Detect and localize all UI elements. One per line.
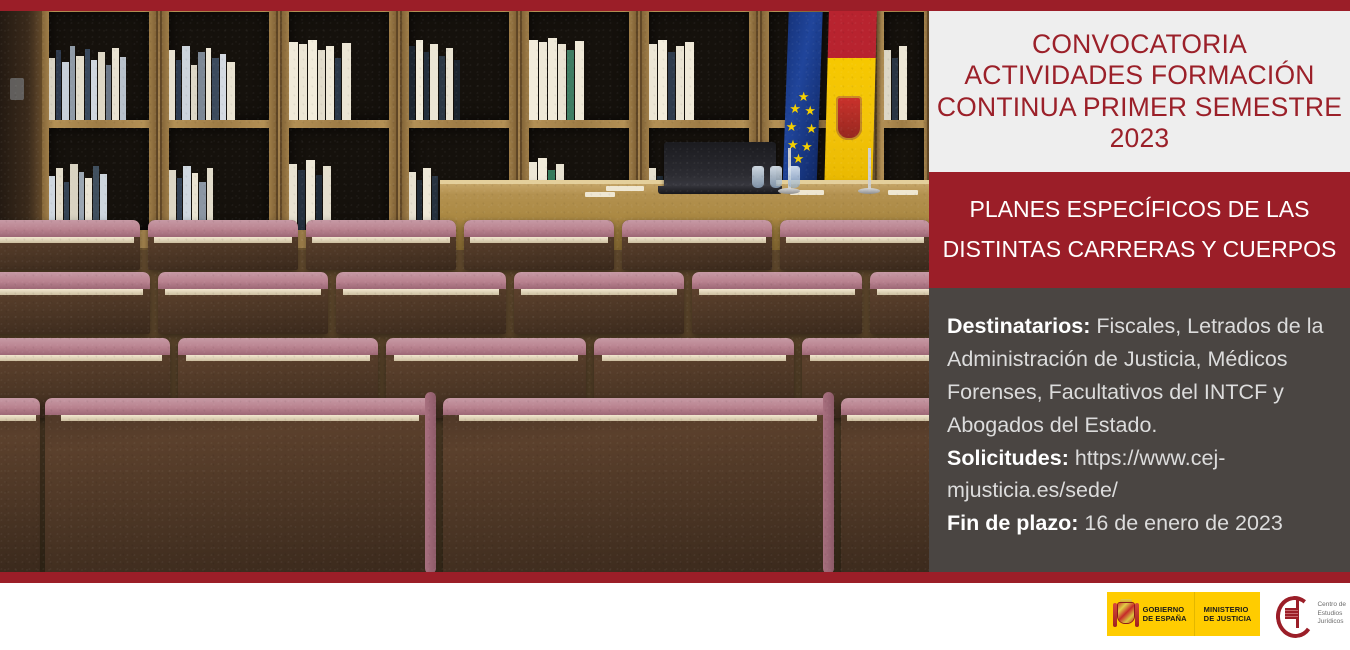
subtitle-line-2: DISTINTAS CARRERAS Y CUERPOS (943, 230, 1337, 270)
poster-details-block: Destinatarios: Fiscales, Letrados de la … (929, 288, 1350, 572)
paper-sheet (606, 186, 644, 191)
bookcase-glass-pane (649, 12, 749, 120)
microphone-base (858, 188, 880, 194)
paper-sheet (585, 192, 615, 197)
poster-title-block: CONVOCATORIA ACTIVIDADES FORMACIÓN CONTI… (929, 11, 1350, 172)
water-glass (770, 166, 782, 188)
seat (464, 220, 614, 270)
title-line-4: 2023 (1110, 123, 1170, 153)
detail-fin-de-plazo: Fin de plazo: 16 de enero de 2023 (947, 507, 1332, 540)
title-line-1: CONVOCATORIA (1032, 29, 1247, 59)
title-line-2: ACTIVIDADES FORMACIÓN (964, 60, 1314, 90)
cej-line-2: Estudios (1317, 610, 1346, 619)
bookcase-glass-pane (409, 12, 509, 120)
detail-solicitudes: Solicitudes: https://www.cej-mjusticia.e… (947, 442, 1332, 508)
microphone-base (778, 188, 800, 194)
bookcase-glass-pane (169, 12, 269, 120)
pillar-icon (1113, 603, 1117, 627)
book-shelf (289, 128, 389, 230)
detail-label-solicitudes: Solicitudes: (947, 446, 1069, 470)
ministerio-lockup: MINISTERIO DE JUSTICIA (1195, 592, 1261, 636)
book-shelf (649, 12, 749, 120)
bookcase-glass-pane (529, 12, 629, 120)
seat (45, 398, 435, 572)
bookcase-glass-pane (289, 12, 389, 120)
water-glass (788, 166, 800, 188)
detail-destinatarios: Destinatarios: Fiscales, Letrados de la … (947, 310, 1332, 442)
footer: GOBIERNO DE ESPAÑA MINISTERIO DE JUSTICI… (0, 583, 1350, 650)
bookcase-glass-pane (49, 12, 149, 120)
book-shelf (169, 12, 269, 120)
seat (148, 220, 298, 270)
wall-shadow-left (0, 0, 40, 250)
seat (0, 398, 40, 572)
subtitle-line-1: PLANES ESPECÍFICOS DE LAS (969, 190, 1309, 230)
bookcase-glass-pane (884, 12, 924, 120)
shield-icon (1118, 603, 1134, 623)
seat (514, 272, 684, 334)
detail-label-destinatarios: Destinatarios: (947, 314, 1090, 338)
bookcase-glass-pane (49, 128, 149, 230)
bookcase-column (40, 0, 158, 250)
bottom-accent-bar (0, 572, 1350, 583)
cej-inner-block-icon (1285, 608, 1298, 619)
cej-line-1: Centro de (1317, 601, 1346, 610)
cej-line-3: Jurídicos (1317, 618, 1346, 627)
book-shelf (884, 12, 924, 120)
gobierno-line-1: GOBIERNO (1143, 605, 1187, 614)
seat (841, 398, 929, 572)
page-title: CONVOCATORIA ACTIVIDADES FORMACIÓN CONTI… (937, 29, 1342, 154)
gobierno-line-2: DE ESPAÑA (1143, 614, 1187, 623)
seat (306, 220, 456, 270)
seat (158, 272, 328, 334)
cej-mark-icon (1276, 596, 1312, 632)
detail-value-fin-de-plazo: 16 de enero de 2023 (1084, 511, 1282, 535)
title-line-3: CONTINUA PRIMER SEMESTRE (937, 92, 1342, 122)
seat (692, 272, 862, 334)
gobierno-text: GOBIERNO DE ESPAÑA (1143, 605, 1187, 623)
laptop-base (658, 186, 782, 194)
gobierno-de-espana-logo: GOBIERNO DE ESPAÑA MINISTERIO DE JUSTICI… (1107, 592, 1261, 636)
seat (622, 220, 772, 270)
seat-armrest (425, 392, 436, 572)
book-shelf (49, 12, 149, 120)
spain-coat-of-arms (836, 96, 862, 140)
seat (336, 272, 506, 334)
seat (0, 220, 140, 270)
ministerio-line-1: MINISTERIO (1204, 605, 1252, 614)
seat-armrest (823, 392, 834, 572)
book-shelf (409, 12, 509, 120)
poster: ★ ★ ★ ★ ★ ★ ★ ★ (0, 0, 1350, 650)
gobierno-lockup: GOBIERNO DE ESPAÑA (1107, 592, 1194, 636)
detail-label-fin-de-plazo: Fin de plazo: (947, 511, 1078, 535)
info-panel: CONVOCATORIA ACTIVIDADES FORMACIÓN CONTI… (929, 0, 1350, 572)
water-glass (752, 166, 764, 188)
bookcase-column (280, 0, 398, 250)
book-shelf (169, 128, 269, 230)
book-shelf (49, 128, 149, 230)
bookcase-glass-pane (169, 128, 269, 230)
footer-logos: GOBIERNO DE ESPAÑA MINISTERIO DE JUSTICI… (1107, 592, 1346, 636)
poster-subtitle-block: PLANES ESPECÍFICOS DE LAS DISTINTAS CARR… (929, 172, 1350, 288)
ministerio-line-2: DE JUSTICIA (1204, 614, 1252, 623)
bookcase-glass-pane (289, 128, 389, 230)
spain-coat-of-arms-icon (1113, 599, 1139, 630)
paper-sheet (888, 190, 918, 195)
conference-hall-photo: ★ ★ ★ ★ ★ ★ ★ ★ (0, 0, 929, 572)
seat (443, 398, 833, 572)
seat (870, 272, 929, 334)
book-shelf (529, 12, 629, 120)
cej-text: Centro de Estudios Jurídicos (1317, 601, 1346, 627)
seat (780, 220, 929, 270)
photo-inner: ★ ★ ★ ★ ★ ★ ★ ★ (0, 0, 929, 572)
ministerio-text: MINISTERIO DE JUSTICIA (1204, 605, 1252, 623)
seat (0, 272, 150, 334)
bookcase-column (160, 0, 278, 250)
pillar-icon (1135, 603, 1139, 627)
microphone-stem (868, 148, 871, 190)
wall-switch-plate (10, 78, 24, 100)
cej-logo: Centro de Estudios Jurídicos (1272, 596, 1346, 632)
top-accent-bar (0, 0, 1350, 11)
book-shelf (289, 12, 389, 120)
